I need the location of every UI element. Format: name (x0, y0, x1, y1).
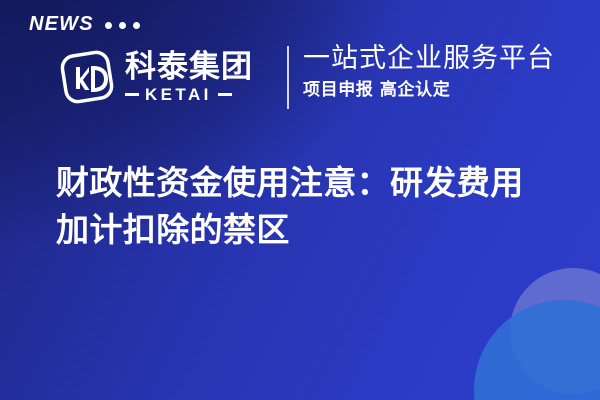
news-label-text: NEWS (29, 14, 94, 34)
dot-icon (133, 22, 140, 29)
slogan-sub: 项目申报 高企认定 (303, 79, 555, 101)
dot-icon (105, 22, 112, 29)
brand-lockup: 科泰集团 KETAI (58, 44, 253, 110)
brand-name-en: KETAI (145, 86, 212, 103)
brand-name-en-row: KETAI (125, 86, 253, 103)
dot-icon (119, 22, 126, 29)
brand-name-cn: 科泰集团 (125, 52, 253, 84)
ketai-kd-monogram-icon (58, 47, 116, 107)
brand-slogan-divider (287, 46, 289, 109)
news-label: NEWS (29, 14, 140, 34)
slogan-block: 一站式企业服务平台 项目申报 高企认定 (303, 42, 555, 101)
headline-title: 财政性资金使用注意：研发费用加计扣除的禁区 (56, 160, 556, 254)
slogan-main: 一站式企业服务平台 (303, 42, 555, 76)
news-dots-icon (105, 22, 140, 29)
rule-right (218, 93, 232, 96)
brand-wordmark: 科泰集团 KETAI (125, 52, 253, 103)
news-banner: NEWS 科泰集团 KETAI (0, 0, 600, 400)
rule-left (125, 93, 139, 96)
